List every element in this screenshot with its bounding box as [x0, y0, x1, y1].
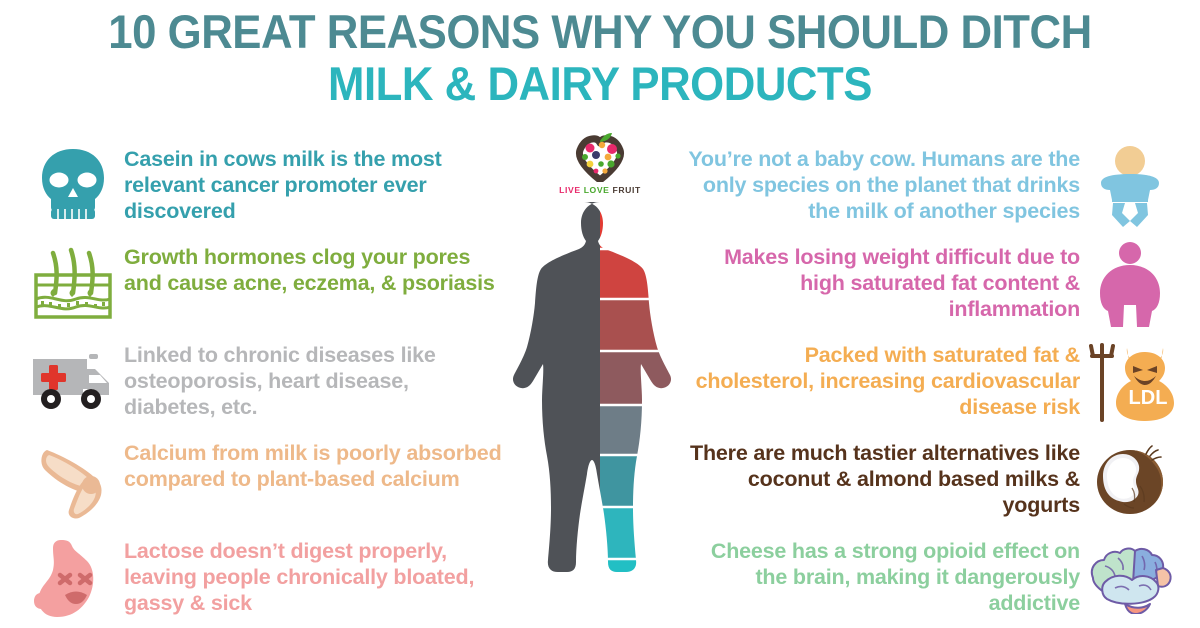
- title-line-2: MILK & DAIRY PRODUCTS: [42, 58, 1158, 110]
- human-body-figure: [502, 198, 698, 626]
- page-title: 10 GREAT REASONS WHY YOU SHOULD DITCH MI…: [0, 6, 1200, 110]
- logo-word-love: LOVE: [584, 185, 610, 195]
- stomach-icon: [24, 532, 122, 624]
- left-reasons-column: Casein in cows milk is the most relevant…: [24, 140, 504, 628]
- reason-text: Calcium from milk is poorly absorbed com…: [122, 434, 504, 492]
- live-love-fruit-logo: LIVE LOVE FRUIT: [530, 132, 670, 196]
- logo-word-fruit: FRUIT: [613, 185, 641, 195]
- obese-person-icon: [1082, 238, 1178, 330]
- body-right-bands: [600, 198, 698, 626]
- reason-item-baby-cow: You’re not a baby cow. Humans are the on…: [688, 140, 1178, 232]
- ambulance-icon: [24, 336, 122, 428]
- heart-logo-icon: [530, 132, 670, 182]
- reason-item-lactose: Lactose doesn’t digest properly, leaving…: [24, 532, 504, 624]
- infographic-poster: 10 GREAT REASONS WHY YOU SHOULD DITCH MI…: [0, 0, 1200, 628]
- skull-icon: [24, 140, 122, 232]
- reason-text: Cheese has a strong opioid effect on the…: [688, 532, 1082, 616]
- center-graphic: LIVE LOVE FRUIT: [502, 132, 698, 628]
- reason-text: Growth hormones clog your pores and caus…: [122, 238, 504, 296]
- reason-text: Packed with saturated fat & cholesterol,…: [688, 336, 1082, 420]
- reason-text: Linked to chronic diseases like osteopor…: [122, 336, 504, 420]
- reason-item-chronic-disease: Linked to chronic diseases like osteopor…: [24, 336, 504, 428]
- right-reasons-column: You’re not a baby cow. Humans are the on…: [688, 140, 1178, 628]
- reason-text: There are much tastier alternatives like…: [688, 434, 1082, 518]
- reason-text: Makes losing weight difficult due to hig…: [688, 238, 1082, 322]
- baby-icon: [1082, 140, 1178, 232]
- title-line-1: 10 GREAT REASONS WHY YOU SHOULD DITCH: [42, 6, 1158, 58]
- reason-item-cholesterol: LDL Packed with saturated fat & choleste…: [688, 336, 1178, 428]
- brain-icon: [1082, 532, 1178, 624]
- reason-item-hormones: Growth hormones clog your pores and caus…: [24, 238, 504, 330]
- reason-item-weight: Makes losing weight difficult due to hig…: [688, 238, 1178, 330]
- logo-word-live: LIVE: [559, 185, 581, 195]
- reason-text: Casein in cows milk is the most relevant…: [122, 140, 504, 224]
- reason-item-cheese-opioid: Cheese has a strong opioid effect on the…: [688, 532, 1178, 624]
- ldl-devil-icon: LDL: [1082, 336, 1178, 428]
- body-left-half: [502, 198, 600, 626]
- skin-hair-follicle-icon: [24, 238, 122, 330]
- knee-joint-icon: [24, 434, 122, 526]
- reason-item-casein: Casein in cows milk is the most relevant…: [24, 140, 504, 232]
- reason-item-alternatives: There are much tastier alternatives like…: [688, 434, 1178, 526]
- logo-wordmark: LIVE LOVE FRUIT: [530, 185, 670, 195]
- coconut-icon: [1082, 434, 1178, 526]
- reason-item-calcium: Calcium from milk is poorly absorbed com…: [24, 434, 504, 526]
- ldl-label: LDL: [1129, 387, 1168, 409]
- reason-text: You’re not a baby cow. Humans are the on…: [688, 140, 1082, 224]
- reason-text: Lactose doesn’t digest properly, leaving…: [122, 532, 504, 616]
